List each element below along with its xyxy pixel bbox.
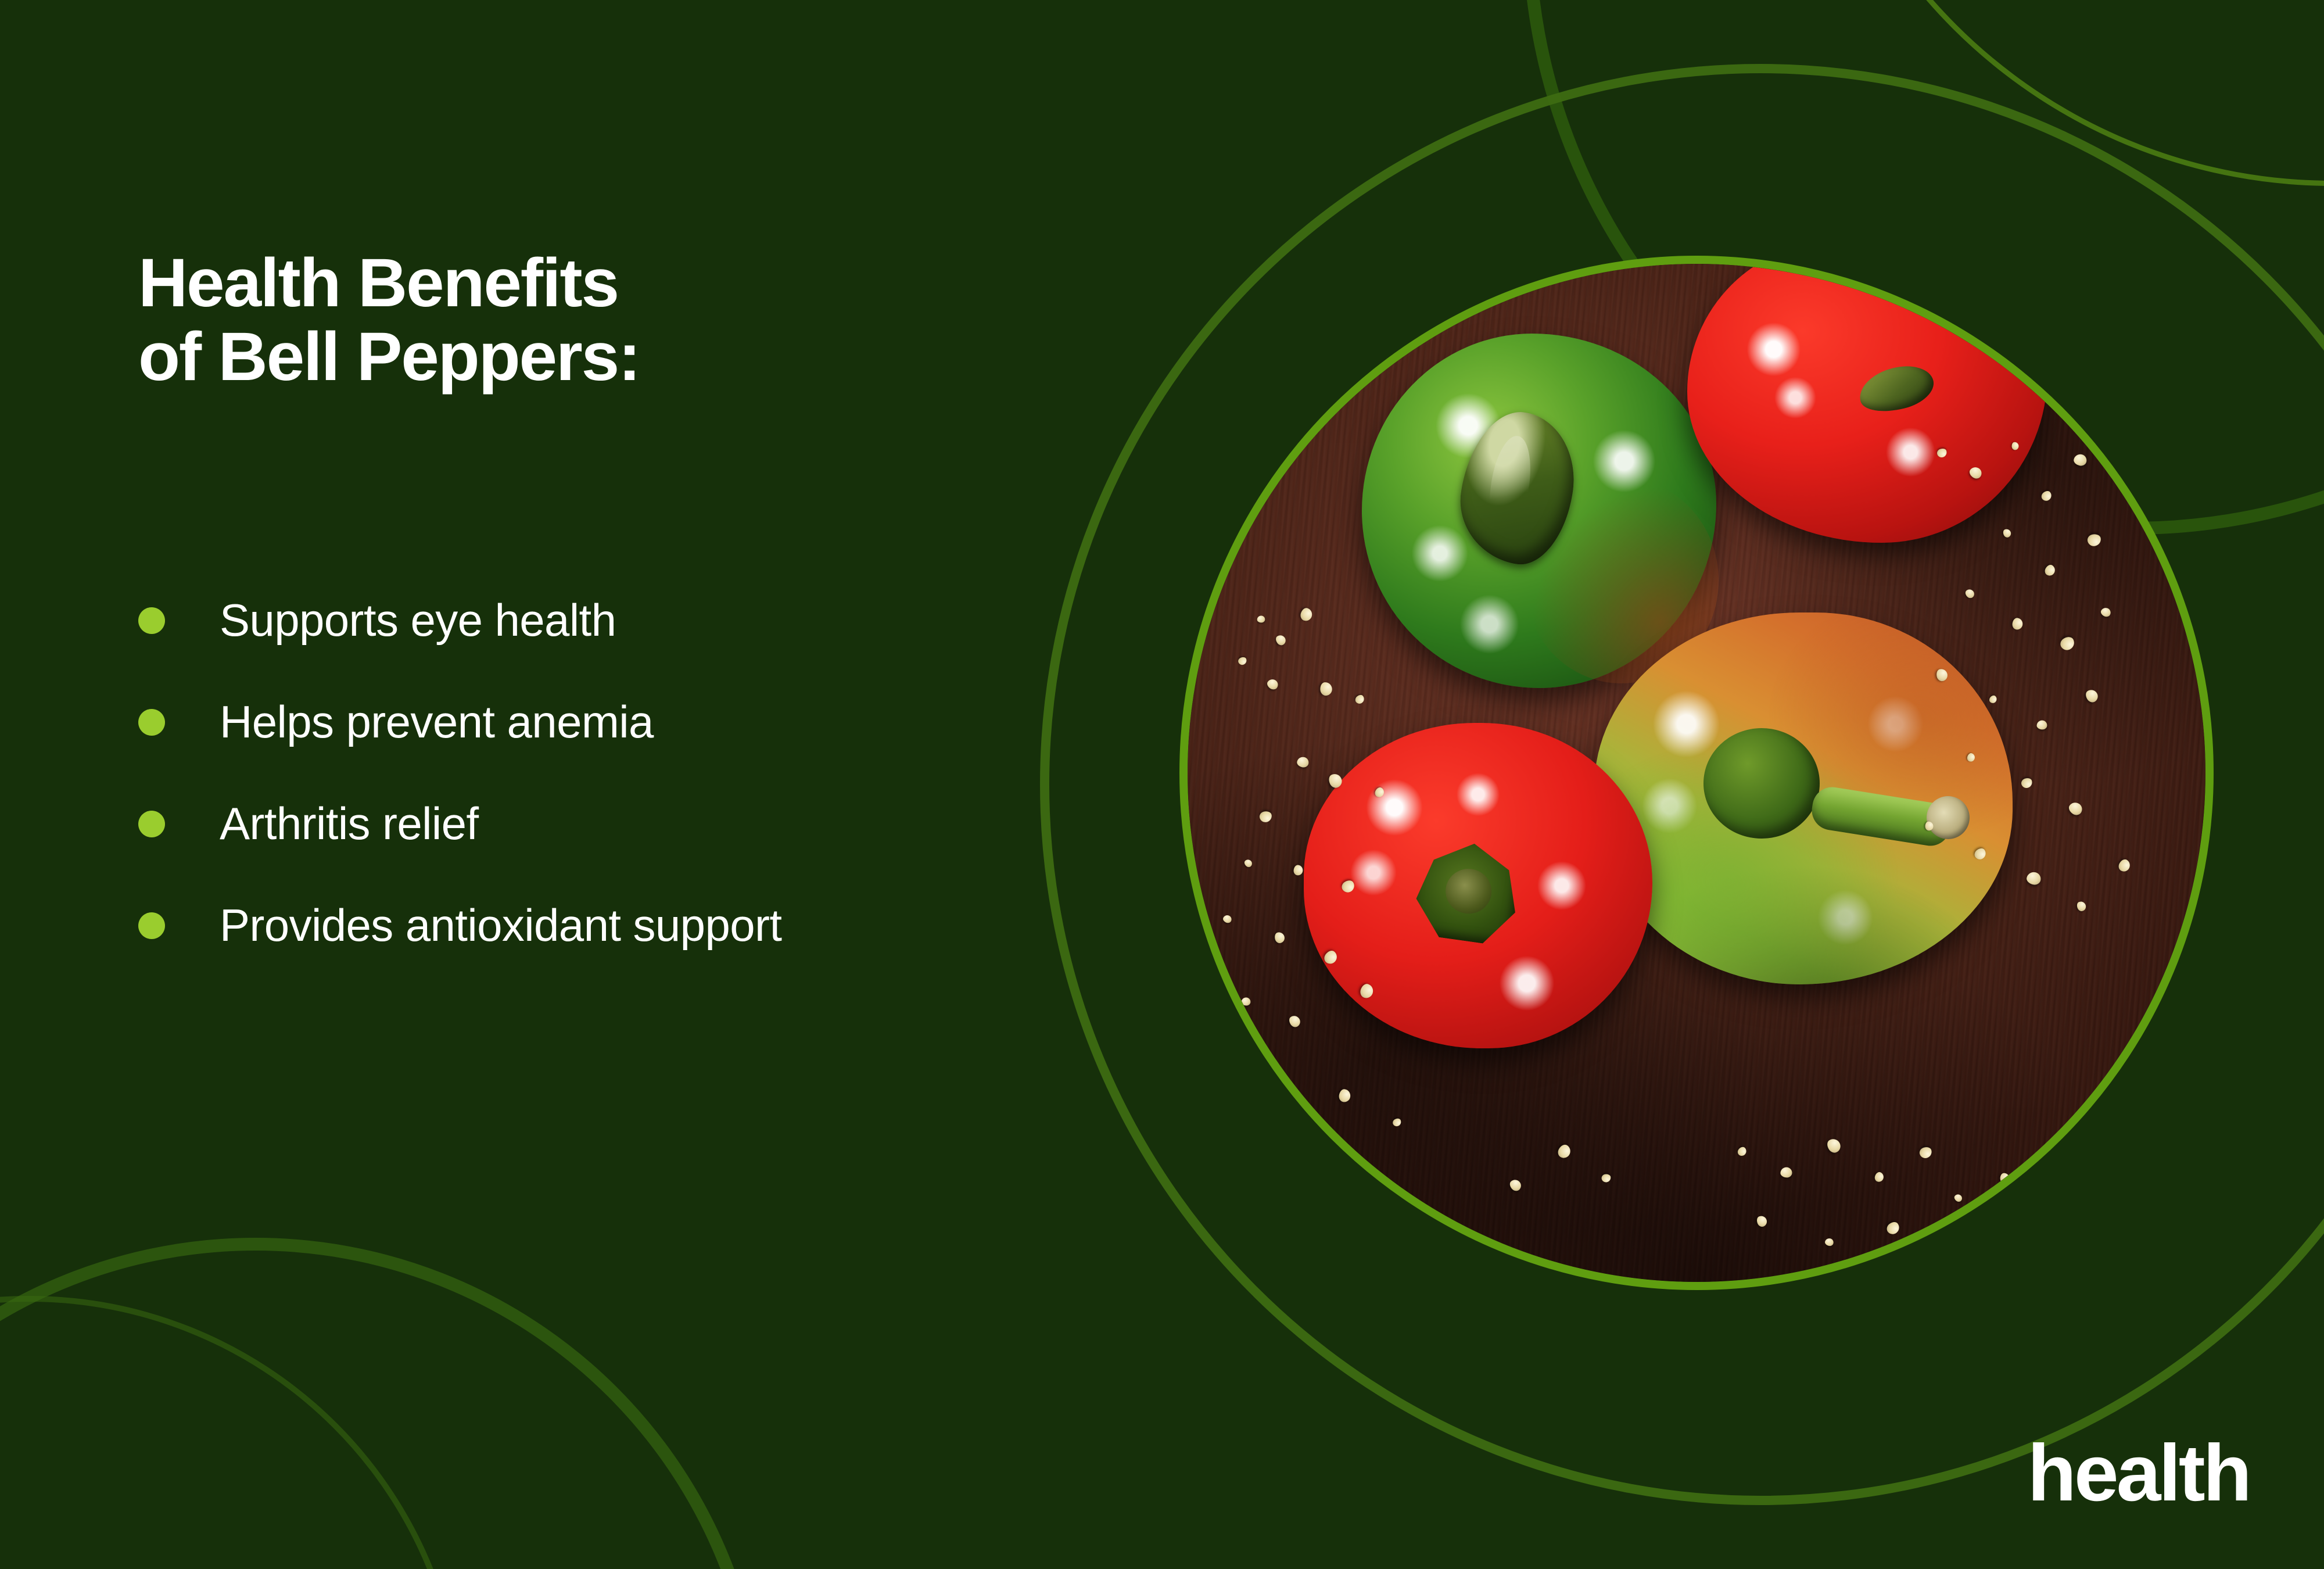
list-item-label: Arthritis relief xyxy=(220,797,479,850)
decorative-arc-bottom-left xyxy=(0,1238,767,1569)
pepper-seed xyxy=(1241,997,1250,1005)
pepper-stem-tip xyxy=(1927,796,1970,839)
pepper-seed xyxy=(1780,1167,1792,1178)
list-item-label: Provides antioxidant support xyxy=(220,899,781,952)
list-item-label: Helps prevent anemia xyxy=(220,696,654,748)
pepper-seed xyxy=(2036,720,2047,729)
decorative-arc-top-right-thin xyxy=(1795,0,2324,186)
list-item: Supports eye health xyxy=(138,569,1196,671)
decorative-arc-bottom-left-inner xyxy=(0,1296,465,1569)
bullet-dot-icon xyxy=(138,912,165,939)
bullet-dot-icon xyxy=(138,709,165,736)
list-item: Arthritis relief xyxy=(138,773,1196,875)
bell-peppers-photo xyxy=(1188,264,2205,1282)
list-item: Helps prevent anemia xyxy=(138,671,1196,773)
bullet-dot-icon xyxy=(138,607,165,634)
brand-wordmark: health xyxy=(2028,1433,2250,1513)
photo-circle xyxy=(1179,256,2214,1290)
list-item-label: Supports eye health xyxy=(220,594,616,647)
benefits-list: Supports eye health Helps prevent anemia… xyxy=(138,569,1196,976)
list-item: Provides antioxidant support xyxy=(138,875,1196,976)
green-bell-pepper xyxy=(1362,334,1716,688)
pepper-seed xyxy=(1257,616,1265,623)
infographic-canvas: Health Benefits of Bell Peppers: Support… xyxy=(0,0,2324,1569)
red-bell-pepper-bottom xyxy=(1304,723,1652,1048)
pepper-stem xyxy=(1855,359,1938,418)
page-title: Health Benefits of Bell Peppers: xyxy=(138,246,1010,395)
bullet-dot-icon xyxy=(138,811,165,837)
pepper-stem-base xyxy=(1703,728,1820,839)
ripening-bell-pepper xyxy=(1594,612,2013,984)
pepper-calyx xyxy=(1411,837,1524,947)
